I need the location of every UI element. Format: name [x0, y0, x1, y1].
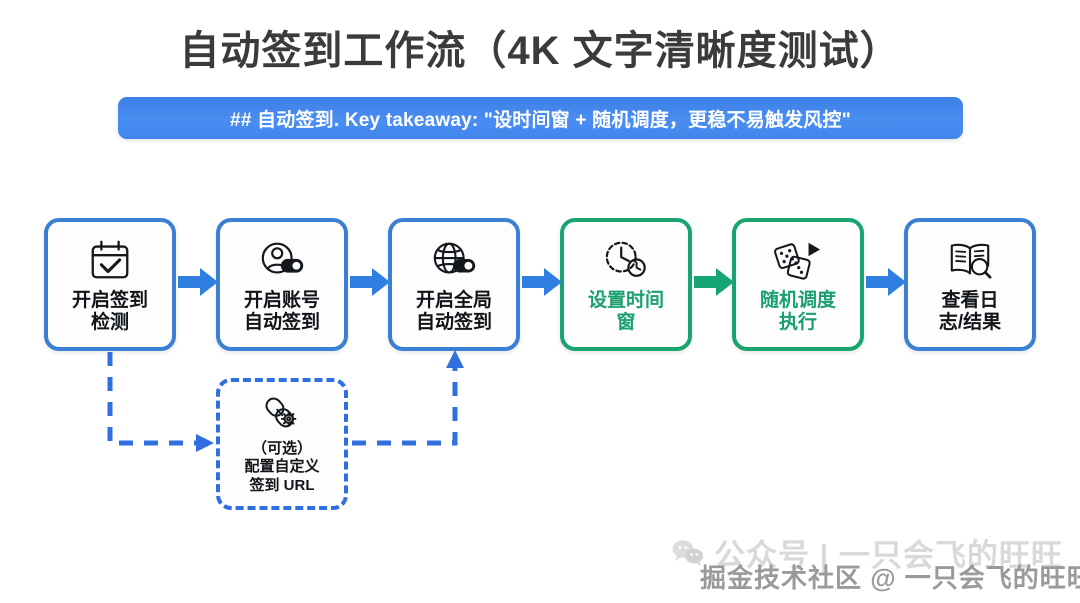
flow-node-random-schedule-exec[interactable]: 随机调度 执行: [732, 218, 864, 351]
flow-node-label: 开启签到 检测: [72, 290, 148, 334]
flow-node-set-time-window[interactable]: 设置时间 窗: [560, 218, 692, 351]
watermark-strong: 掘金技术社区 @ 一只会飞的旺旺: [700, 558, 1080, 595]
optional-node-label: （可选） 配置自定义 签到 URL: [244, 440, 319, 495]
slide-canvas: 自动签到工作流（4K 文字清晰度测试） ## 自动签到. Key takeawa…: [0, 0, 1080, 603]
flow-arrow-1: [178, 265, 218, 299]
key-takeaway-banner: ## 自动签到. Key takeaway: "设时间窗 + 随机调度，更稳不易…: [118, 97, 963, 139]
book-search-icon: [945, 234, 995, 286]
clock-icon: [601, 234, 651, 286]
flow-arrow-4: [694, 265, 734, 299]
flow-node-enable-checkin-detection[interactable]: 开启签到 检测: [44, 218, 176, 351]
page-title: 自动签到工作流（4K 文字清晰度测试）: [0, 18, 1080, 76]
flow-node-label: 设置时间 窗: [588, 290, 664, 334]
flow-node-view-logs-results[interactable]: 查看日 志/结果: [904, 218, 1036, 351]
flow-node-label: 开启全局 自动签到: [416, 290, 492, 334]
flow-arrow-5: [866, 265, 906, 299]
flow-node-enable-account-autocheckin[interactable]: 开启账号 自动签到: [216, 218, 348, 351]
flow-arrow-2: [350, 265, 390, 299]
globe-toggle-icon: [429, 234, 479, 286]
flow-node-label: 查看日 志/结果: [939, 290, 1001, 334]
flow-node-enable-global-autocheckin[interactable]: 开启全局 自动签到: [388, 218, 520, 351]
flow-node-optional-custom-url[interactable]: （可选） 配置自定义 签到 URL: [216, 378, 348, 510]
key-takeaway-text: ## 自动签到. Key takeaway: "设时间窗 + 随机调度，更稳不易…: [230, 105, 851, 132]
calendar-check-icon: [87, 234, 133, 286]
dice-play-icon: [772, 234, 824, 286]
flow-node-label: 随机调度 执行: [760, 290, 836, 334]
user-toggle-icon: [257, 234, 307, 286]
flow-node-label: 开启账号 自动签到: [244, 290, 320, 334]
flow-arrow-3: [522, 265, 562, 299]
link-gear-icon: [260, 392, 304, 438]
